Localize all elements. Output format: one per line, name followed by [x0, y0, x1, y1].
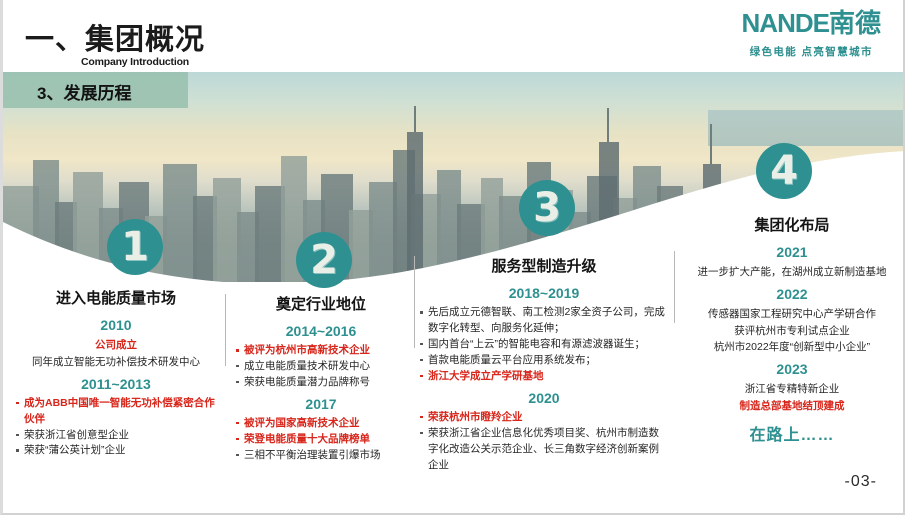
timeline-item: 荣获“蒲公英计划”企业: [15, 443, 217, 459]
timeline-marker-4-number: 4: [770, 151, 798, 191]
timeline-year-label: 2018~2019: [419, 285, 669, 301]
slide-canvas: 一、集团概况 Company Introduction NANDE南德 绿色电能…: [0, 0, 905, 515]
timeline-block: 2010公司成立同年成立智能无功补偿技术研发中心: [15, 317, 217, 371]
timeline-item: 成为ABB中国唯一智能无功补偿紧密合作伙伴: [15, 396, 217, 428]
timeline-year-label: 2017: [235, 396, 407, 412]
timeline-item: 传感器国家工程研究中心产学研合作: [683, 306, 901, 323]
column-divider-1: [225, 294, 226, 366]
timeline-item: 荣登电能质量十大品牌榜单: [235, 432, 407, 448]
timeline-year-label: 2014~2016: [235, 323, 407, 339]
timeline-item: 被评为杭州市高新技术企业: [235, 343, 407, 359]
timeline-year-label: 2020: [419, 390, 669, 406]
timeline-marker-4[interactable]: 4: [756, 143, 812, 199]
timeline-item: 荣获浙江省创意型企业: [15, 428, 217, 444]
timeline-marker-3-number: 3: [533, 188, 561, 228]
timeline-item: 同年成立智能无功补偿技术研发中心: [15, 354, 217, 371]
column-divider-3: [674, 251, 675, 323]
column-divider-2: [414, 256, 415, 348]
timeline-item-list: 被评为杭州市高新技术企业成立电能质量技术研发中心荣获电能质量潜力品牌称号: [235, 343, 407, 391]
timeline-item: 国内首台“上云”的智能电容和有源滤波器诞生；: [419, 337, 669, 353]
timeline-item: 浙江省专精特新企业: [683, 381, 901, 398]
timeline-marker-3[interactable]: 3: [519, 180, 575, 236]
timeline-column-1: 进入电能质量市场2010公司成立同年成立智能无功补偿技术研发中心2011~201…: [15, 287, 217, 461]
page-subtitle-en: Company Introduction: [81, 56, 189, 68]
timeline-item: 进一步扩大产能，在湖州成立新制造基地: [683, 264, 901, 281]
timeline-column-1-heading: 进入电能质量市场: [15, 287, 217, 308]
timeline-column-4: 集团化布局2021进一步扩大产能，在湖州成立新制造基地2022传感器国家工程研究…: [683, 214, 901, 445]
timeline-item: 杭州市2022年度“创新型中小企业”: [683, 339, 901, 356]
timeline-item: 获评杭州市专利试点企业: [683, 323, 901, 340]
page-number: -03-: [845, 473, 877, 491]
timeline-column-2-heading: 奠定行业地位: [235, 293, 407, 314]
timeline-item: 成立电能质量技术研发中心: [235, 359, 407, 375]
timeline-year-label: 2021: [683, 244, 901, 260]
timeline-item: 荣获杭州市瞪羚企业: [419, 410, 669, 426]
logo-cjk-text: 南德: [829, 8, 881, 38]
timeline-column-footer: 在路上……: [683, 421, 901, 445]
timeline-item-list: 被评为国家高新技术企业荣登电能质量十大品牌榜单三相不平衡治理装置引爆市场: [235, 416, 407, 464]
timeline-item: 浙江大学成立产学研基地: [419, 369, 669, 385]
timeline-block: 2017被评为国家高新技术企业荣登电能质量十大品牌榜单三相不平衡治理装置引爆市场: [235, 396, 407, 464]
timeline-column-3-heading: 服务型制造升级: [419, 255, 669, 276]
timeline-block: 2020荣获杭州市瞪羚企业荣获浙江省企业信息化优秀项目奖、杭州市制造数字化改造公…: [419, 390, 669, 474]
timeline-marker-1[interactable]: 1: [107, 219, 163, 275]
timeline-block: 2022传感器国家工程研究中心产学研合作获评杭州市专利试点企业杭州市2022年度…: [683, 286, 901, 356]
timeline-item: 公司成立: [15, 337, 217, 354]
timeline-column-4-heading: 集团化布局: [683, 214, 901, 235]
timeline-block: 2014~2016被评为杭州市高新技术企业成立电能质量技术研发中心荣获电能质量潜…: [235, 323, 407, 391]
timeline-year-label: 2022: [683, 286, 901, 302]
timeline-block: 2018~2019先后成立元德智联、南工检测2家全资子公司，完成数字化转型、向服…: [419, 285, 669, 385]
section-label-text: 3、发展历程: [37, 79, 131, 104]
timeline-item-list: 成为ABB中国唯一智能无功补偿紧密合作伙伴荣获浙江省创意型企业荣获“蒲公英计划”…: [15, 396, 217, 460]
brand-logo: NANDE南德 绿色电能 点亮智慧城市: [742, 10, 881, 59]
water-strip: [708, 110, 905, 146]
timeline-year-label: 2011~2013: [15, 376, 217, 392]
timeline-block: 2021进一步扩大产能，在湖州成立新制造基地: [683, 244, 901, 281]
timeline-item: 首款电能质量云平台应用系统发布；: [419, 353, 669, 369]
timeline-item: 制造总部基地结顶建成: [683, 398, 901, 415]
timeline-column-3: 服务型制造升级2018~2019先后成立元德智联、南工检测2家全资子公司，完成数…: [419, 255, 669, 476]
timeline-column-2: 奠定行业地位2014~2016被评为杭州市高新技术企业成立电能质量技术研发中心荣…: [235, 293, 407, 466]
logo-tagline: 绿色电能 点亮智慧城市: [742, 44, 881, 59]
timeline-item-list: 荣获杭州市瞪羚企业荣获浙江省企业信息化优秀项目奖、杭州市制造数字化改造公关示范企…: [419, 410, 669, 474]
timeline-item: 三相不平衡治理装置引爆市场: [235, 448, 407, 464]
timeline-year-label: 2023: [683, 361, 901, 377]
logo-wordmark: NANDE南德: [742, 10, 881, 36]
timeline-item: 先后成立元德智联、南工检测2家全资子公司，完成数字化转型、向服务化延伸；: [419, 305, 669, 337]
timeline-marker-2[interactable]: 2: [296, 232, 352, 288]
timeline-item: 荣获浙江省企业信息化优秀项目奖、杭州市制造数字化改造公关示范企业、长三角数字经济…: [419, 426, 669, 474]
timeline-block: 2023浙江省专精特新企业制造总部基地结顶建成: [683, 361, 901, 415]
timeline-year-label: 2010: [15, 317, 217, 333]
timeline-item: 被评为国家高新技术企业: [235, 416, 407, 432]
section-label-chip: 3、发展历程: [3, 72, 188, 108]
timeline-marker-1-number: 1: [121, 227, 149, 267]
timeline-item-list: 先后成立元德智联、南工检测2家全资子公司，完成数字化转型、向服务化延伸；国内首台…: [419, 305, 669, 385]
page-title: 一、集团概况: [25, 16, 205, 58]
logo-latin-text: NANDE: [742, 8, 829, 38]
timeline-block: 2011~2013成为ABB中国唯一智能无功补偿紧密合作伙伴荣获浙江省创意型企业…: [15, 376, 217, 460]
timeline-item: 荣获电能质量潜力品牌称号: [235, 375, 407, 391]
timeline-marker-2-number: 2: [310, 240, 338, 280]
